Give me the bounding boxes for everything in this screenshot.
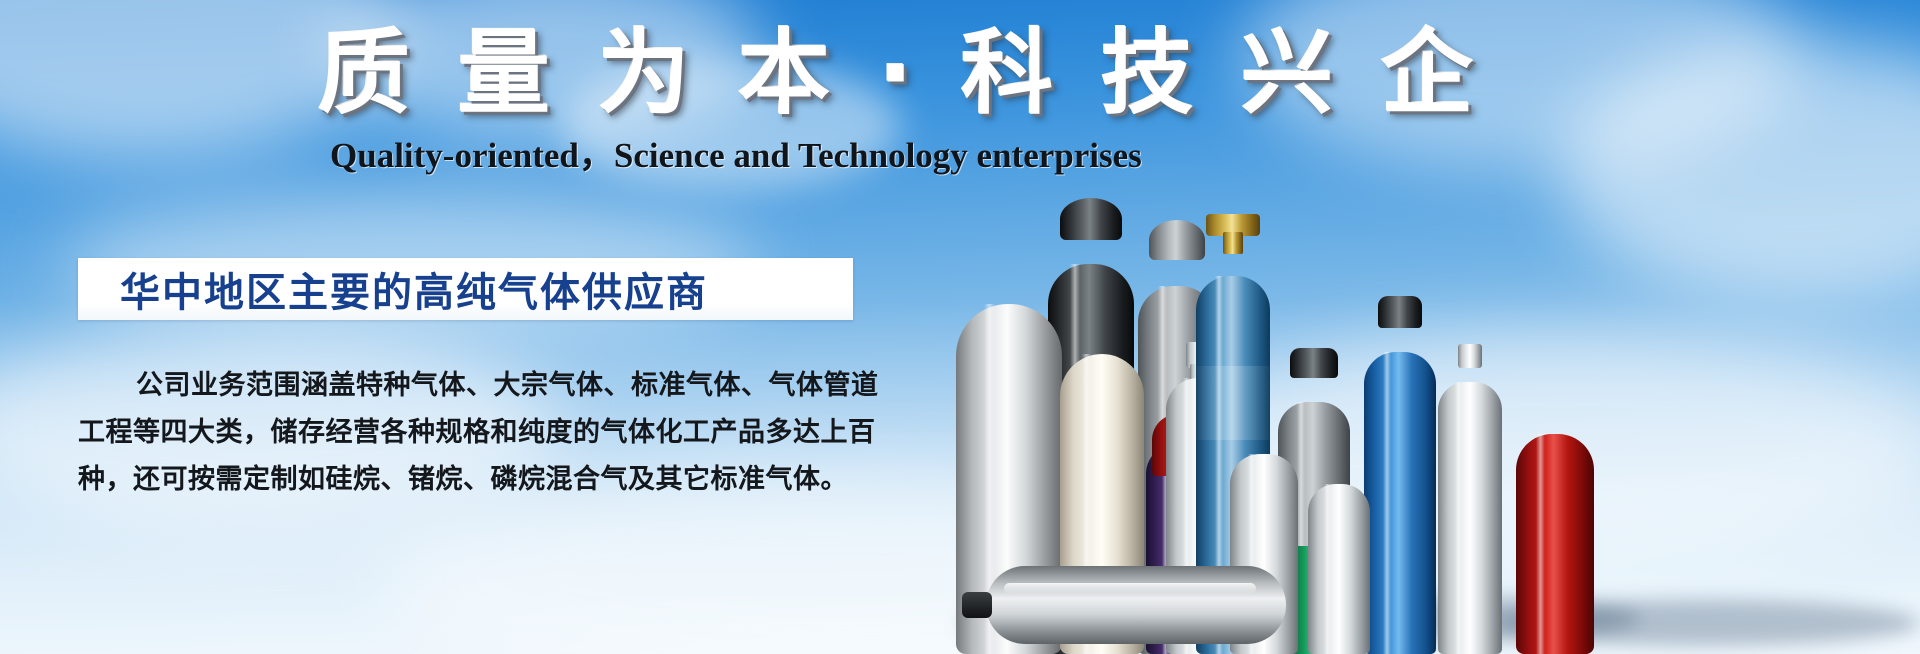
cylinder-horizontal [986, 566, 1286, 644]
gas-cylinder-group [930, 0, 1920, 654]
description-paragraph: 公司业务范围涵盖特种气体、大宗气体、标准气体、气体管道 工程等四大类，储存经营各… [78, 362, 868, 503]
promotional-banner: 质 量 为 本 · 科 技 兴 企 Quality-oriented，Scien… [0, 0, 1920, 654]
cylinder-body [1438, 382, 1502, 654]
cylinder-cap-handle [1060, 198, 1122, 240]
cylinder-body [986, 566, 1286, 644]
paragraph-line-1: 公司业务范围涵盖特种气体、大宗气体、标准气体、气体管道 [78, 362, 868, 409]
cylinder-red-bottle [1516, 434, 1594, 654]
cylinder-highlight [1536, 434, 1545, 654]
cylinder-end-valve [962, 592, 992, 618]
cylinder-aluminium-short [1308, 484, 1370, 654]
paragraph-line-2: 工程等四大类，储存经营各种规格和纯度的气体化工产品多达上百 [78, 409, 868, 456]
cylinder-valve [1458, 344, 1482, 368]
cylinder-highlight [1455, 382, 1462, 654]
cylinder-aluminium [1438, 364, 1502, 654]
cylinder-neck [1223, 232, 1243, 254]
paragraph-line-3: 种，还可按需定制如硅烷、锗烷、磷烷混合气及其它标准气体。 [78, 456, 868, 503]
cylinder-label-band [1196, 366, 1270, 440]
cylinder-blue-tall [1364, 324, 1436, 654]
cylinder-body [1516, 434, 1594, 654]
cylinder-cap [1378, 296, 1422, 328]
cylinder-highlight [1324, 484, 1331, 654]
cylinder-highlight [1383, 352, 1391, 654]
cylinder-body [1308, 484, 1370, 654]
cylinder-body [1364, 352, 1436, 654]
highlight-strip-text: 华中地区主要的高纯气体供应商 [120, 260, 708, 318]
highlight-strip: 华中地区主要的高纯气体供应商 [78, 258, 853, 320]
cylinder-cap [1290, 348, 1338, 378]
cylinder-highlight [1004, 583, 1256, 594]
